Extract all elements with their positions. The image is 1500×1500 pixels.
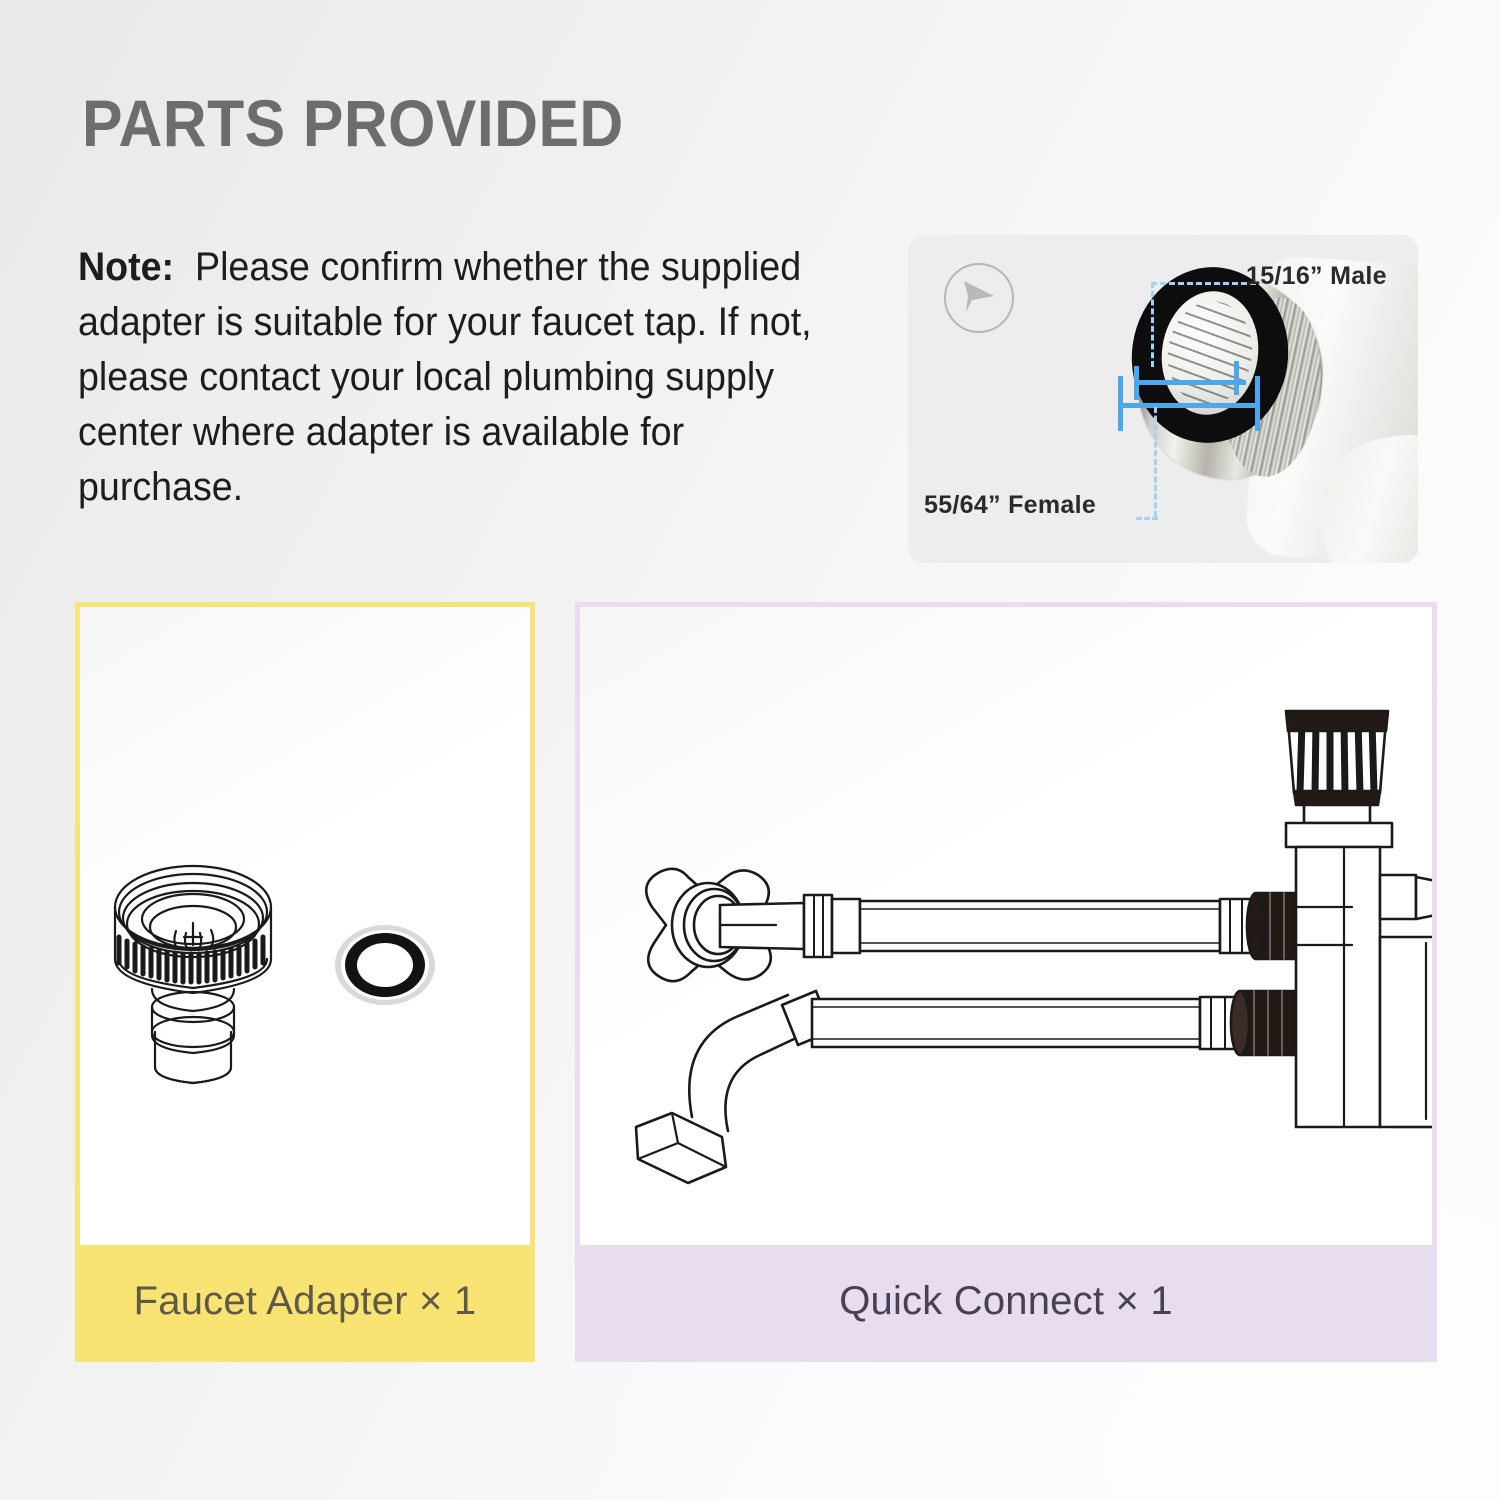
male-dimension-bar bbox=[1120, 403, 1260, 408]
parts-provided-page: PARTS PROVIDED Note: Please confirm whet… bbox=[0, 0, 1500, 1500]
male-dimension-dash-top bbox=[1151, 282, 1256, 285]
o-ring bbox=[335, 925, 435, 1005]
note-label: Note: bbox=[78, 245, 174, 289]
female-dimension-dash-left bbox=[1136, 517, 1158, 520]
adapter-size-photo-panel: 15/16” Male 55/64” Female bbox=[908, 235, 1418, 563]
arrow-cursor-icon bbox=[944, 263, 1014, 333]
male-size-label: 15/16” Male bbox=[1246, 262, 1387, 291]
female-dimension-cap-right bbox=[1234, 361, 1239, 395]
male-dimension-dash-left bbox=[1151, 282, 1154, 367]
female-dimension-cap-left bbox=[1134, 366, 1139, 400]
part-card-faucet-adapter: Faucet Adapter × 1 bbox=[75, 602, 535, 1362]
part-card-quick-connect: Quick Connect × 1 bbox=[575, 602, 1437, 1362]
male-dimension-cap-right bbox=[1255, 376, 1260, 431]
female-dimension-bar bbox=[1136, 380, 1246, 385]
female-dimension-dash-down bbox=[1154, 407, 1157, 517]
page-title: PARTS PROVIDED bbox=[82, 86, 624, 160]
caption-quick-connect: Quick Connect × 1 bbox=[580, 1245, 1432, 1357]
faucet-adapter-illustration bbox=[80, 607, 530, 1245]
quick-connect-illustration bbox=[580, 607, 1432, 1245]
note-paragraph: Note: Please confirm whether the supplie… bbox=[78, 240, 849, 515]
male-dimension-cap-left bbox=[1118, 376, 1123, 431]
caption-faucet-adapter: Faucet Adapter × 1 bbox=[80, 1245, 530, 1357]
female-size-label: 55/64” Female bbox=[924, 491, 1096, 520]
